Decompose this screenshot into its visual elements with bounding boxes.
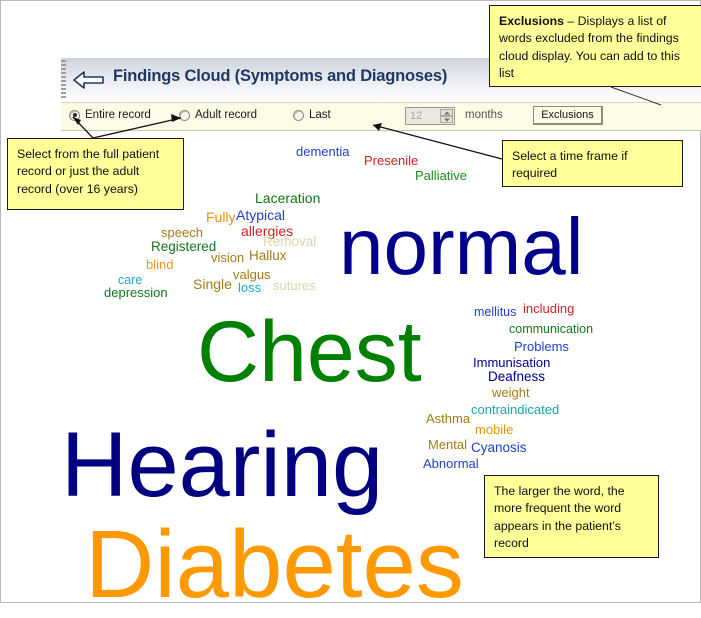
- cloud-word[interactable]: Deafness: [488, 370, 545, 384]
- radio-adult-record[interactable]: Adult record: [179, 109, 257, 121]
- cloud-word[interactable]: Chest: [197, 309, 422, 395]
- cloud-word[interactable]: contraindicated: [471, 403, 559, 416]
- timeframe-callout: Select a time frame if required: [502, 140, 683, 187]
- word-size-callout-text: The larger the word, the more frequent t…: [494, 484, 625, 550]
- cloud-word[interactable]: Hearing: [61, 419, 383, 511]
- exclusions-button-label: Exclusions: [541, 109, 594, 121]
- exclusions-callout-strong: Exclusions: [499, 14, 564, 28]
- cloud-word[interactable]: Mental: [428, 438, 467, 451]
- cloud-word[interactable]: Palliative: [415, 169, 467, 182]
- exclusions-button[interactable]: Exclusions: [533, 106, 603, 125]
- radio-last-months[interactable]: Last: [293, 109, 331, 121]
- radio-last-months-dot[interactable]: [293, 110, 304, 121]
- cloud-word[interactable]: weight: [492, 386, 530, 399]
- cloud-word[interactable]: Problems: [514, 340, 569, 353]
- record-scope-callout: Select from the full patient record or j…: [7, 138, 184, 210]
- cloud-word[interactable]: normal: [339, 207, 584, 287]
- cloud-word[interactable]: communication: [509, 323, 593, 336]
- cloud-word[interactable]: Abnormal: [423, 457, 479, 470]
- cloud-word[interactable]: Registered: [151, 240, 216, 254]
- cloud-word[interactable]: Immunisation: [473, 356, 550, 369]
- cloud-word[interactable]: Diabetes: [85, 517, 464, 613]
- cloud-word[interactable]: Asthma: [426, 412, 470, 425]
- radio-entire-record-label: Entire record: [85, 109, 151, 121]
- exclusions-callout: Exclusions – Displays a list of words ex…: [489, 5, 701, 87]
- stepper-down-icon[interactable]: [440, 116, 453, 123]
- cloud-word[interactable]: sutures: [273, 279, 316, 292]
- page-title: Findings Cloud (Symptoms and Diagnoses): [113, 67, 447, 86]
- cloud-word[interactable]: vision: [211, 251, 244, 264]
- radio-entire-record[interactable]: Entire record: [69, 109, 151, 121]
- radio-entire-record-dot[interactable]: [69, 110, 80, 121]
- cloud-word[interactable]: mobile: [475, 423, 513, 436]
- cloud-word[interactable]: dementia: [296, 145, 349, 158]
- cloud-word[interactable]: Fully: [206, 210, 236, 224]
- stepper-up-icon[interactable]: [440, 109, 453, 116]
- radio-adult-record-dot[interactable]: [179, 110, 190, 121]
- cloud-word[interactable]: depression: [104, 286, 168, 299]
- cloud-word[interactable]: Presenile: [364, 154, 418, 167]
- toolbar-grip-handle[interactable]: [61, 60, 66, 100]
- cloud-word[interactable]: Removal: [263, 235, 316, 249]
- cloud-word[interactable]: speech: [161, 226, 203, 239]
- cloud-word[interactable]: loss: [238, 281, 261, 294]
- cloud-word[interactable]: Laceration: [255, 191, 320, 205]
- screenshot-root: Findings Cloud (Symptoms and Diagnoses) …: [0, 0, 701, 603]
- radio-last-months-label: Last: [309, 109, 331, 121]
- months-input-value[interactable]: 12: [406, 110, 422, 122]
- timeframe-callout-text: Select a time frame if required: [512, 149, 628, 180]
- back-arrow-icon[interactable]: [72, 70, 106, 90]
- cloud-word[interactable]: including: [523, 302, 574, 315]
- cloud-word[interactable]: Hallux: [249, 249, 287, 263]
- cloud-word[interactable]: blind: [146, 258, 173, 271]
- months-stepper-buttons[interactable]: [440, 109, 453, 123]
- word-size-callout: The larger the word, the more frequent t…: [484, 475, 659, 558]
- radio-adult-record-label: Adult record: [195, 109, 257, 121]
- months-unit-label: months: [465, 109, 503, 121]
- cloud-word[interactable]: mellitus: [474, 306, 516, 319]
- options-toolbar: Entire record Adult record Last 12 month…: [61, 102, 701, 131]
- cloud-word[interactable]: Cyanosis: [471, 441, 527, 455]
- months-stepper[interactable]: 12: [405, 107, 455, 125]
- cloud-word[interactable]: Single: [193, 277, 232, 291]
- cloud-word[interactable]: Atypical: [236, 208, 285, 222]
- record-scope-callout-text: Select from the full patient record or j…: [17, 147, 159, 196]
